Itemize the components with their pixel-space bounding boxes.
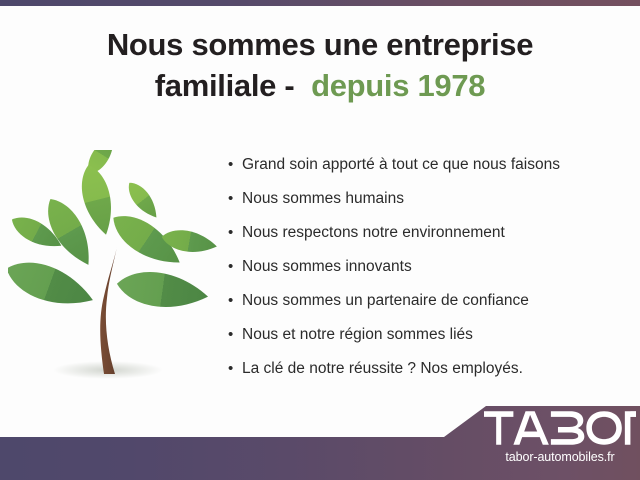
page-title-line-2-prefix: familiale - <box>155 68 311 103</box>
tree-leaf <box>76 162 119 238</box>
benefits-list: • Grand soin apporté à tout ce que nous … <box>228 148 632 386</box>
tree-leaf <box>123 178 163 223</box>
list-item-label: Nous respectons notre environnement <box>242 216 505 250</box>
logo-tagline: tabor-automobiles.fr <box>484 450 636 464</box>
page-title-accent: depuis 1978 <box>311 68 485 103</box>
tree-illustration <box>8 150 218 390</box>
tabor-logo: tabor-automobiles.fr <box>484 410 636 474</box>
top-accent-strip <box>0 0 640 6</box>
list-item: • Nous sommes humains <box>228 182 632 216</box>
page-title-line-1: Nous sommes une entreprise <box>0 24 640 65</box>
list-item: • Nous et notre région sommes liés <box>228 318 632 352</box>
list-item-label: Nous sommes innovants <box>242 250 412 284</box>
slide-canvas: Nous sommes une entreprise familiale - d… <box>0 0 640 480</box>
bullet-icon: • <box>228 182 242 216</box>
page-title: Nous sommes une entreprise familiale - d… <box>0 24 640 106</box>
list-item-label: Nous sommes humains <box>242 182 404 216</box>
list-item-label: Nous sommes un partenaire de confiance <box>242 284 529 318</box>
list-item: • Nous sommes un partenaire de confiance <box>228 284 632 318</box>
list-item: • Grand soin apporté à tout ce que nous … <box>228 148 632 182</box>
page-title-line-2: familiale - depuis 1978 <box>0 65 640 106</box>
list-item: • Nous sommes innovants <box>228 250 632 284</box>
tree-illustration-svg <box>8 150 218 390</box>
tree-trunk <box>100 242 118 374</box>
list-item-label: Grand soin apporté à tout ce que nous fa… <box>242 148 560 182</box>
tabor-wordmark <box>484 410 636 446</box>
bullet-icon: • <box>228 250 242 284</box>
bullet-icon: • <box>228 216 242 250</box>
list-item: • La clé de notre réussite ? Nos employé… <box>228 352 632 386</box>
bullet-icon: • <box>228 284 242 318</box>
bullet-icon: • <box>228 352 242 386</box>
list-item: • Nous respectons notre environnement <box>228 216 632 250</box>
tree-leaf <box>115 267 211 313</box>
list-item-label: Nous et notre région sommes liés <box>242 318 473 352</box>
bullet-icon: • <box>228 318 242 352</box>
bullet-icon: • <box>228 148 242 182</box>
list-item-label: La clé de notre réussite ? Nos employés. <box>242 352 523 386</box>
